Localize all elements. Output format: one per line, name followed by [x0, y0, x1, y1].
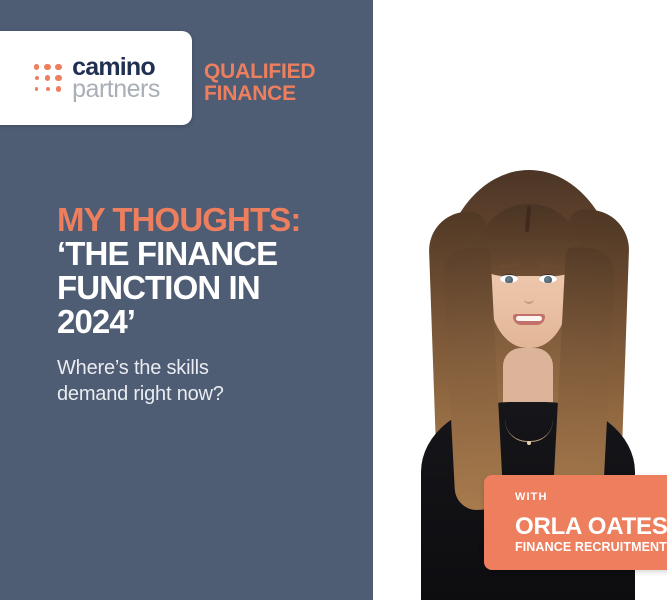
logo-wordmark: camino partners	[72, 55, 160, 102]
mouth-shape	[513, 314, 545, 325]
iris-right	[544, 276, 552, 283]
dot-grid-icon	[32, 63, 63, 94]
logo-card: camino partners	[0, 31, 192, 125]
category-kicker: QUALIFIED FINANCE	[204, 61, 364, 105]
speaker-name: ORLA OATES	[515, 514, 667, 540]
logo-dot	[46, 87, 50, 91]
logo-dot	[55, 75, 61, 81]
subtitle-line-1: Where’s the skills	[57, 356, 357, 382]
necklace-pendant	[527, 441, 531, 445]
logo-dot	[56, 86, 61, 91]
logo-wordmark-secondary: partners	[72, 77, 160, 102]
kicker-line-1: QUALIFIED	[204, 61, 364, 83]
logo-dot	[35, 87, 38, 90]
headline-line-4: 2024’	[57, 305, 377, 339]
subtitle: Where’s the skills demand right now?	[57, 356, 357, 407]
subtitle-line-2: demand right now?	[57, 382, 357, 408]
headline: MY THOUGHTS: ‘THE FINANCE FUNCTION IN 20…	[57, 203, 377, 339]
eye-left	[500, 274, 518, 283]
headline-line-1: MY THOUGHTS:	[57, 203, 377, 237]
kicker-line-2: FINANCE	[204, 83, 364, 105]
promo-graphic: camino partners QUALIFIED FINANCE MY THO…	[0, 0, 667, 600]
nose-shape	[524, 284, 534, 304]
speaker-role: FINANCE RECRUITMENT	[515, 541, 667, 555]
logo-dot	[35, 76, 39, 80]
eye-right	[539, 274, 557, 283]
headline-line-2: ‘THE FINANCE	[57, 237, 377, 271]
logo-dot	[55, 64, 61, 70]
headline-line-3: FUNCTION IN	[57, 271, 377, 305]
logo-lockup: camino partners	[18, 55, 160, 102]
teeth-shape	[516, 316, 542, 321]
speaker-with-label: WITH	[515, 492, 667, 503]
speaker-name-card: WITH ORLA OATES FINANCE RECRUITMENT	[484, 475, 667, 570]
logo-dot	[45, 75, 50, 80]
logo-dot	[44, 64, 50, 70]
logo-dot	[34, 64, 39, 69]
iris-left	[505, 276, 513, 283]
